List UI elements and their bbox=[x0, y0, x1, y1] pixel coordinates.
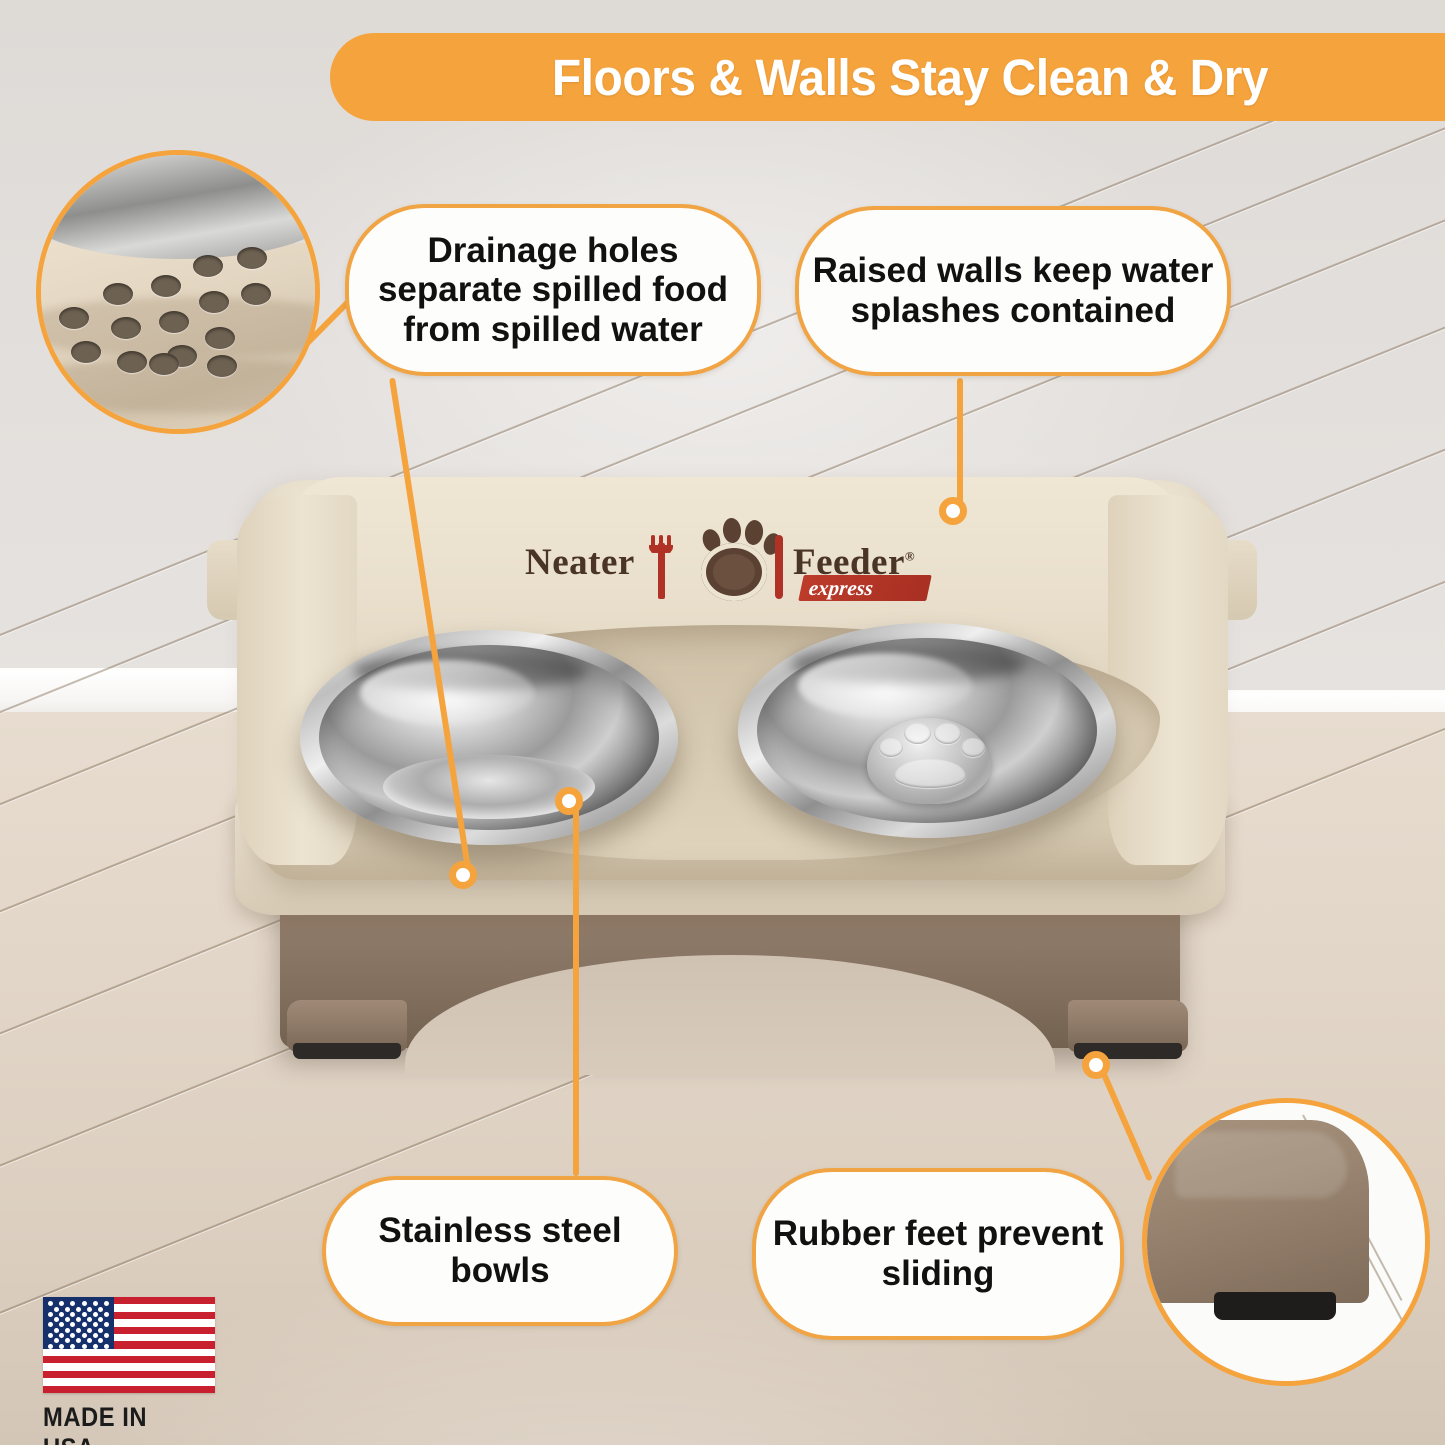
rubber-feet-closeup-inset bbox=[1142, 1098, 1430, 1386]
flag-stripe bbox=[43, 1356, 215, 1363]
header-banner: Floors & Walls Stay Clean & Dry bbox=[330, 33, 1445, 121]
express-ribbon: express bbox=[798, 575, 932, 601]
us-flag-icon bbox=[43, 1297, 215, 1393]
drainage-hole bbox=[159, 311, 189, 333]
bowl-highlight-right bbox=[798, 653, 972, 718]
flag-star bbox=[93, 1344, 98, 1349]
drainage-hole bbox=[117, 351, 147, 373]
flag-star bbox=[98, 1307, 103, 1312]
paw-toe-3 bbox=[744, 519, 765, 546]
callout-stainless-bowls: Stainless steel bowls bbox=[322, 1176, 678, 1326]
flag-star bbox=[65, 1328, 70, 1333]
flag-stripe bbox=[43, 1371, 215, 1378]
neater-feeder-logo: Neater Feeder® express bbox=[525, 515, 945, 605]
drainage-hole bbox=[103, 283, 133, 305]
flag-star bbox=[82, 1312, 87, 1317]
drainage-hole bbox=[207, 355, 237, 377]
flag-star bbox=[93, 1333, 98, 1338]
flag-star bbox=[59, 1344, 64, 1349]
paw-toe-2 bbox=[722, 517, 742, 543]
knife-icon bbox=[775, 535, 783, 599]
drainage-hole bbox=[111, 317, 141, 339]
flag-star bbox=[76, 1307, 81, 1312]
dome-paw-toe-1 bbox=[879, 738, 903, 757]
flag-star bbox=[48, 1344, 53, 1349]
flag-star bbox=[104, 1312, 109, 1317]
drainage-hole bbox=[199, 291, 229, 313]
made-in-usa-badge: MADE IN USA bbox=[43, 1297, 215, 1445]
flag-star bbox=[93, 1312, 98, 1317]
rubber-foot-left bbox=[293, 1043, 401, 1059]
callout-connector-line bbox=[573, 808, 579, 1176]
registered-trademark-icon: ® bbox=[905, 549, 915, 564]
drainage-hole bbox=[59, 307, 89, 329]
callout-raised-walls: Raised walls keep water splashes contain… bbox=[795, 206, 1231, 376]
flag-star bbox=[82, 1333, 87, 1338]
header-title: Floors & Walls Stay Clean & Dry bbox=[552, 48, 1268, 107]
flag-star bbox=[82, 1301, 87, 1306]
flag-star bbox=[93, 1301, 98, 1306]
drainage-hole bbox=[151, 275, 181, 297]
callout-feet-text: Rubber feet prevent sliding bbox=[756, 1214, 1120, 1293]
flag-star bbox=[76, 1328, 81, 1333]
neater-feeder-express-product: Neater Feeder® express bbox=[195, 455, 1270, 1080]
dome-paw-toe-3 bbox=[934, 723, 961, 745]
flag-star bbox=[82, 1344, 87, 1349]
made-in-usa-label: MADE IN USA bbox=[43, 1402, 194, 1445]
drainage-hole bbox=[193, 255, 223, 277]
flag-stripe bbox=[43, 1386, 215, 1393]
flag-star bbox=[87, 1307, 92, 1312]
flag-star bbox=[104, 1344, 109, 1349]
flag-star bbox=[65, 1317, 70, 1322]
flag-star bbox=[54, 1328, 59, 1333]
dome-paw-toe-4 bbox=[961, 738, 985, 757]
flag-star bbox=[76, 1317, 81, 1322]
express-label: express bbox=[808, 576, 875, 601]
dome-paw-toe-2 bbox=[904, 723, 931, 745]
flag-star bbox=[54, 1338, 59, 1343]
closeup-bowl-rim bbox=[36, 150, 320, 259]
callout-drainage-text: Drainage holes separate spilled food fro… bbox=[349, 231, 757, 350]
flag-star bbox=[54, 1317, 59, 1322]
closeup-black-rubber-foot bbox=[1214, 1292, 1336, 1320]
callout-drainage-holes: Drainage holes separate spilled food fro… bbox=[345, 204, 761, 376]
infographic-canvas: Neater Feeder® express bbox=[0, 0, 1445, 1445]
bowl-highlight-left bbox=[360, 660, 534, 725]
drainage-hole bbox=[237, 247, 267, 269]
flag-star bbox=[54, 1307, 59, 1312]
drainage-hole bbox=[149, 353, 179, 375]
raised-wall-right bbox=[1108, 495, 1228, 865]
stainless-bowl-right bbox=[738, 623, 1116, 838]
callout-walls-text: Raised walls keep water splashes contain… bbox=[799, 251, 1227, 330]
callout-anchor-dot bbox=[449, 861, 477, 889]
flag-star bbox=[59, 1312, 64, 1317]
flag-star bbox=[104, 1333, 109, 1338]
stainless-bowl-left bbox=[300, 630, 678, 845]
paw-plate-icon bbox=[687, 515, 783, 603]
callout-anchor-dot bbox=[555, 787, 583, 815]
drainage-hole bbox=[241, 283, 271, 305]
flag-star bbox=[48, 1333, 53, 1338]
callout-anchor-dot bbox=[1082, 1051, 1110, 1079]
dome-paw-pad bbox=[894, 759, 966, 788]
drainage-hole bbox=[205, 327, 235, 349]
callout-rubber-feet: Rubber feet prevent sliding bbox=[752, 1168, 1124, 1340]
callout-bowls-text: Stainless steel bowls bbox=[326, 1211, 674, 1290]
flag-star bbox=[87, 1328, 92, 1333]
fork-base bbox=[649, 545, 673, 553]
drainage-holes-closeup-inset bbox=[36, 150, 320, 434]
callout-anchor-dot bbox=[939, 497, 967, 525]
flag-star bbox=[65, 1307, 70, 1312]
drainage-hole bbox=[71, 341, 101, 363]
flag-star bbox=[48, 1312, 53, 1317]
closeup-leg-highlight bbox=[1175, 1131, 1347, 1198]
plate-inner-icon bbox=[713, 554, 755, 590]
logo-word-neater: Neater bbox=[525, 541, 635, 584]
